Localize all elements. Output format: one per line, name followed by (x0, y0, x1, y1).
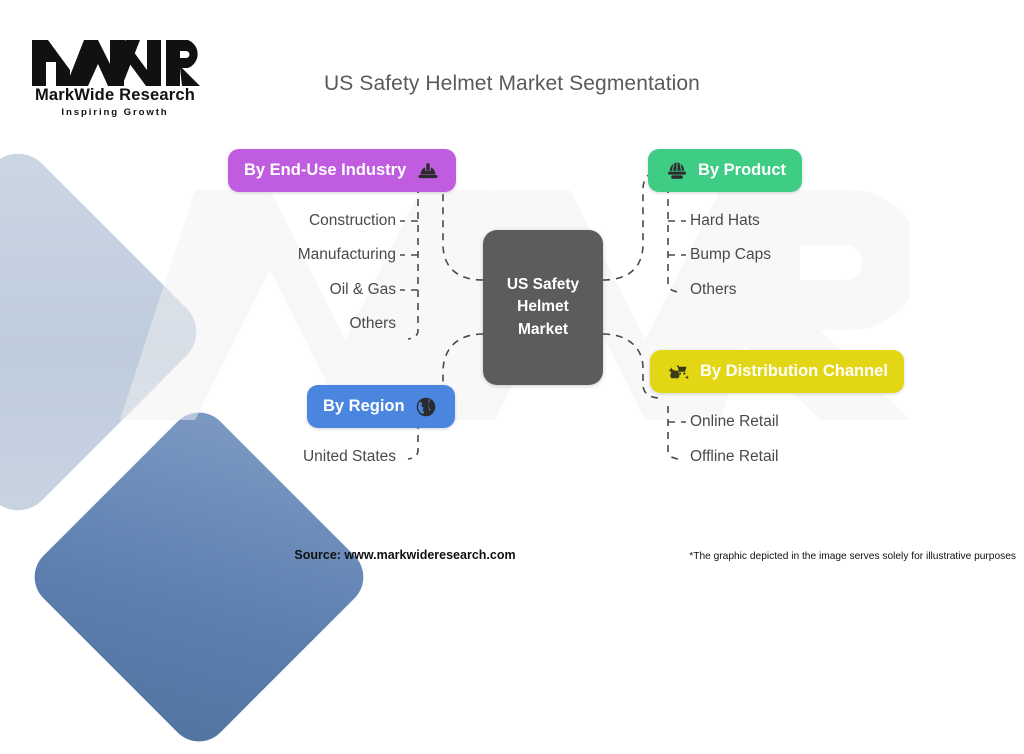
link-industry-spine (408, 186, 418, 339)
branch-node-distribution-channel[interactable]: By Distribution Channel (650, 350, 904, 393)
leaf-region-united-states[interactable]: United States (303, 448, 396, 466)
branch-node-product[interactable]: By Product (648, 149, 802, 192)
hard-hat-icon (415, 158, 440, 183)
infographic-canvas: MarkWide Research Inspiring Growth US Sa… (0, 0, 1024, 576)
leaf-channel-offline-retail[interactable]: Offline Retail (690, 448, 778, 466)
leaf-product-hard-hats[interactable]: Hard Hats (690, 212, 760, 230)
branch-node-end-use-industry[interactable]: By End-Use Industry (228, 149, 456, 192)
center-line-3: Market (518, 321, 568, 338)
disclaimer-text: *The graphic depicted in the image serve… (689, 551, 1016, 562)
leaf-channel-online-retail[interactable]: Online Retail (690, 413, 779, 431)
hard-hat-icon (664, 158, 689, 183)
leaf-industry-oil-and-gas[interactable]: Oil & Gas (330, 281, 396, 299)
leaf-product-bump-caps[interactable]: Bump Caps (690, 246, 771, 264)
leaf-industry-construction[interactable]: Construction (309, 212, 396, 230)
branch-label-region: By Region (323, 397, 405, 416)
leaf-industry-others[interactable]: Others (349, 315, 396, 333)
shopping-cart-sparkle-icon (666, 359, 691, 384)
center-line-1: US Safety (507, 276, 579, 293)
source-text: Source: www.markwideresearch.com (294, 548, 515, 562)
branch-label-product: By Product (698, 161, 786, 180)
link-product-spine (668, 186, 678, 292)
branch-label-distribution-channel: By Distribution Channel (700, 362, 888, 381)
branch-label-end-use-industry: By End-Use Industry (244, 161, 406, 180)
branch-node-region[interactable]: By Region (307, 385, 455, 428)
globe-icon (414, 394, 439, 419)
center-line-2: Helmet (517, 298, 569, 315)
center-node[interactable]: US Safety Helmet Market (483, 230, 603, 385)
link-channel-spine (668, 406, 678, 459)
center-node-label: US Safety Helmet Market (507, 274, 579, 341)
leaf-industry-manufacturing[interactable]: Manufacturing (298, 246, 396, 264)
leaf-product-others[interactable]: Others (690, 281, 737, 299)
